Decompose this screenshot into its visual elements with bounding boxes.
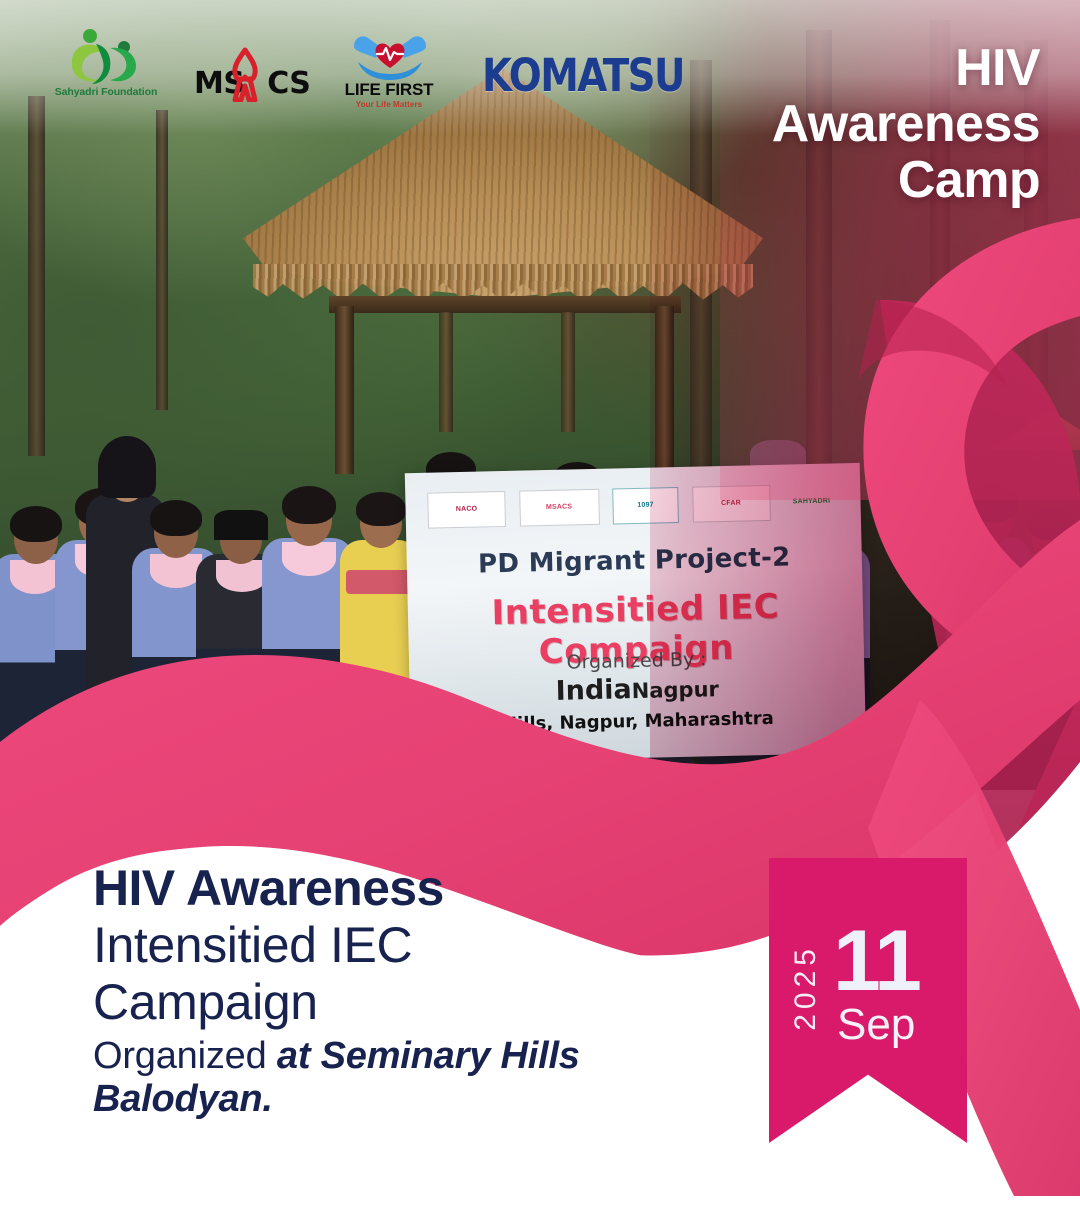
hero-title-line-3: Camp	[610, 152, 1040, 208]
logo-msacs-label-right: CS	[267, 66, 310, 101]
headline-venue: at Seminary Hills	[277, 1035, 580, 1077]
date-month: Sep	[837, 1000, 915, 1050]
banner-logo-naco: NACO	[427, 491, 506, 529]
logo-life-first-label: LIFE FIRST	[330, 80, 448, 100]
headline-line-4: Organized at Seminary Hills	[93, 1035, 733, 1078]
banner-logo-msacs: MSACS	[519, 489, 600, 527]
gazebo-pillar	[335, 306, 354, 474]
headline-organized-prefix: Organized	[93, 1035, 277, 1077]
logo-life-first[interactable]: LIFE FIRST Your Life Matters	[330, 32, 448, 120]
hero-title-line-1: HIV	[610, 40, 1040, 96]
logo-sahyadri-foundation[interactable]: Sahyadri Foundation	[52, 28, 160, 112]
date-day: 11	[833, 918, 920, 1004]
tree-trunk	[156, 110, 168, 410]
headline-line-3: Campaign	[93, 974, 733, 1031]
red-aids-ribbon-icon	[229, 46, 261, 102]
hero-title: HIV Awareness Camp	[610, 40, 1040, 208]
date-year: 2025	[789, 944, 823, 1031]
hands-holding-heart-icon	[350, 32, 430, 80]
logo-sahyadri-label: Sahyadri Foundation	[46, 86, 166, 98]
hero-title-line-2: Awareness	[610, 96, 1040, 152]
headline-line-5: Balodyan.	[93, 1078, 733, 1121]
headline-line-2: Intensitied IEC	[93, 917, 733, 974]
sahyadri-leaf-people-logo-icon	[66, 28, 144, 86]
logo-msacs[interactable]: MSACS	[194, 40, 296, 120]
gazebo-pillar	[439, 312, 453, 432]
gazebo-pillar	[561, 312, 575, 432]
banner-organizer-main: India	[555, 674, 632, 707]
logo-life-first-tagline: Your Life Matters	[330, 100, 448, 109]
tree-trunk	[28, 96, 45, 456]
date-ribbon-badge: 2025 11 Sep	[769, 858, 967, 1143]
headline-block: HIV Awareness Intensitied IEC Campaign O…	[93, 860, 733, 1122]
poster-root: NACO MSACS 1097 CFAR SAHYADRI PD Migrant…	[0, 0, 1080, 1211]
headline-line-1: HIV Awareness	[93, 860, 733, 917]
gazebo-beam	[329, 296, 681, 313]
